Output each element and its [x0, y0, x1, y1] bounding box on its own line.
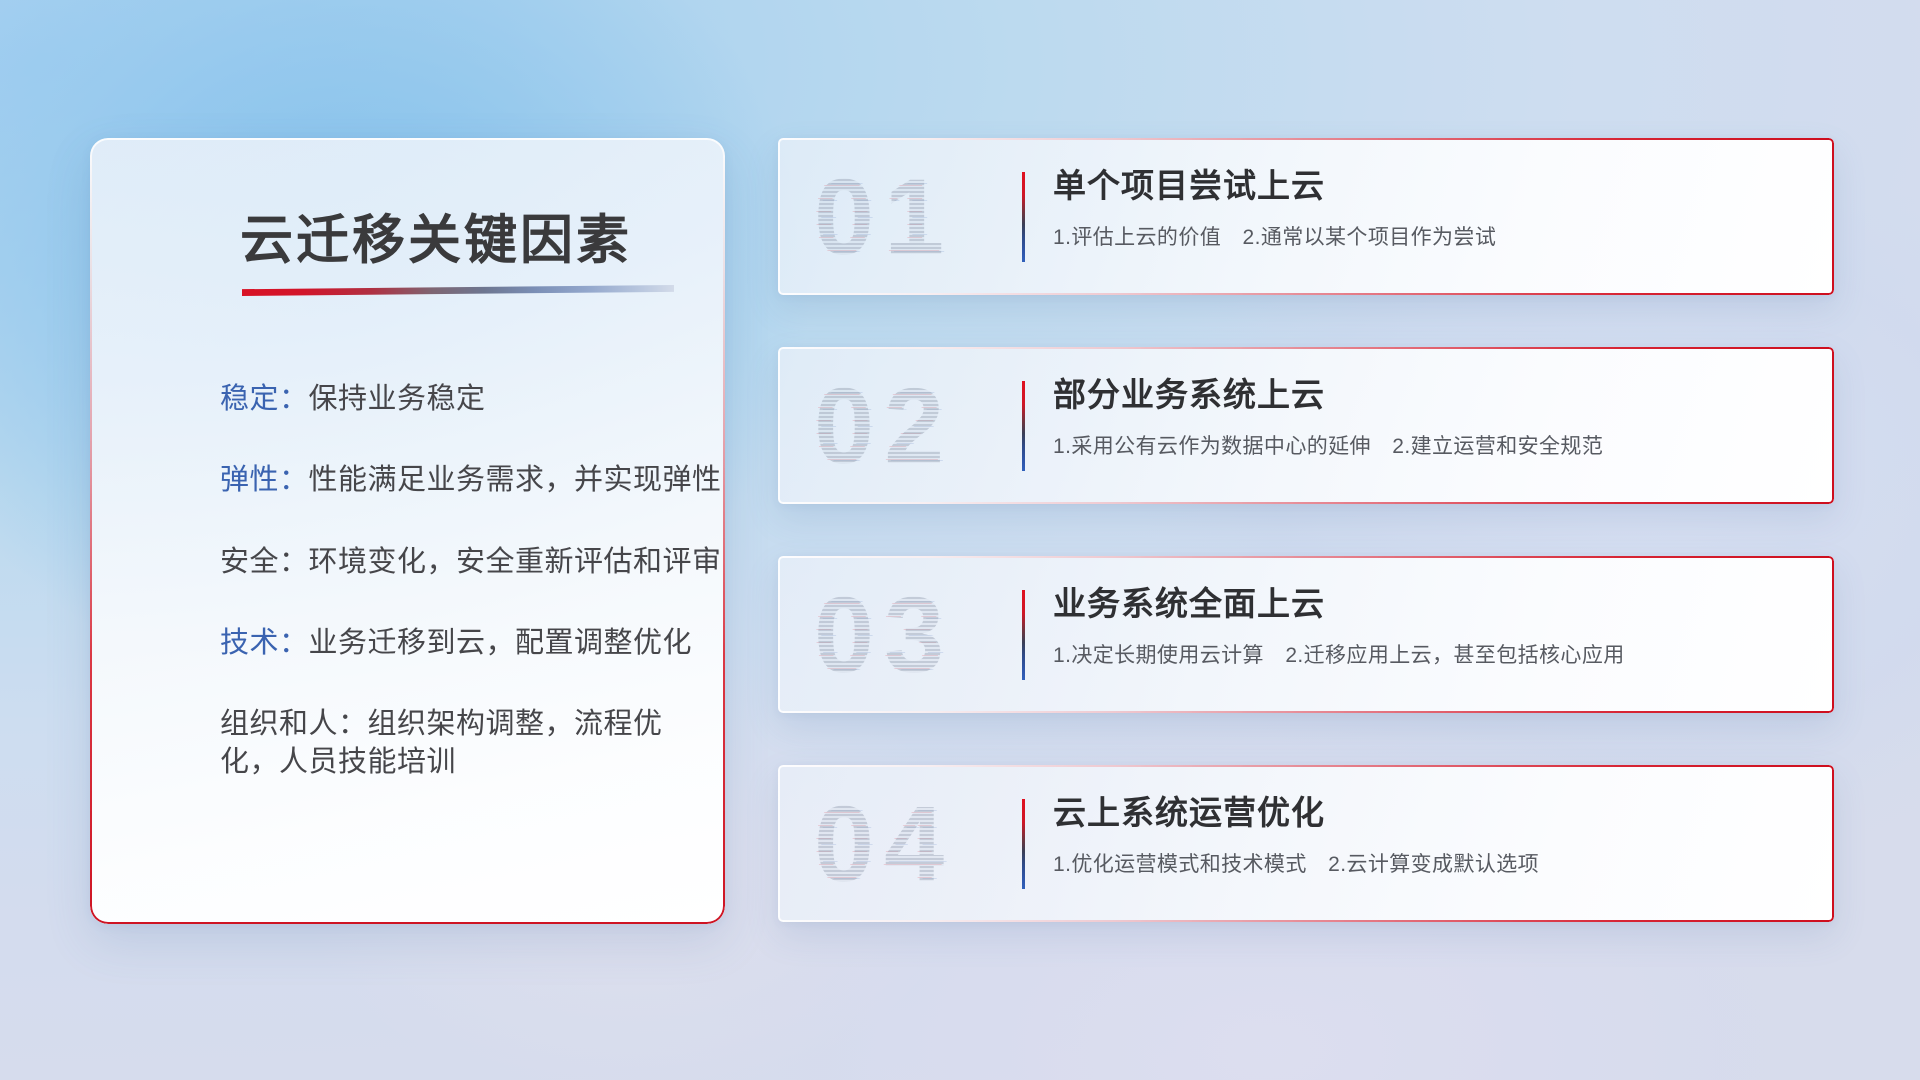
step-divider-accent: [1022, 590, 1025, 680]
step-description: 1.评估上云的价值 2.通常以某个项目作为尝试: [1053, 221, 1800, 251]
list-item-label: 稳定：: [220, 383, 309, 415]
list-item-label: 弹性：: [220, 464, 309, 496]
migration-steps-list: 01 01 01 单个项目尝试上云 1.评估上云的价值 2.通常以某个项目作为尝…: [778, 138, 1834, 974]
step-divider-accent: [1022, 381, 1025, 471]
step-number: 01: [814, 159, 1034, 275]
list-item: 技术：业务迁移到云，配置调整优化: [220, 624, 689, 662]
list-item: 稳定：保持业务稳定: [220, 380, 689, 418]
step-title: 业务系统全面上云: [1053, 584, 1800, 624]
list-item: 组织和人：组织架构调整，流程优化，人员技能培训: [220, 705, 689, 782]
step-text-block: 云上系统运营优化 1.优化运营模式和技术模式 2.云计算变成默认选项: [1053, 793, 1800, 878]
title-underline-accent: [242, 285, 674, 296]
list-item-label: 安全：: [220, 546, 309, 578]
step-text-block: 部分业务系统上云 1.采用公有云作为数据中心的延伸 2.建立运营和安全规范: [1053, 375, 1800, 460]
list-item-text: 性能满足业务需求，并实现弹性: [309, 464, 722, 496]
step-card-01[interactable]: 01 01 01 单个项目尝试上云 1.评估上云的价值 2.通常以某个项目作为尝…: [778, 138, 1834, 295]
list-item-label: 技术：: [220, 627, 309, 659]
step-text-block: 单个项目尝试上云 1.评估上云的价值 2.通常以某个项目作为尝试: [1053, 166, 1800, 251]
step-title: 云上系统运营优化: [1053, 793, 1800, 833]
page-title: 云迁移关键因素: [240, 198, 632, 274]
step-card-02[interactable]: 02 02 02 部分业务系统上云 1.采用公有云作为数据中心的延伸 2.建立运…: [778, 347, 1834, 504]
step-number: 04: [814, 786, 1034, 902]
step-title: 单个项目尝试上云: [1053, 166, 1800, 206]
step-title: 部分业务系统上云: [1053, 375, 1800, 415]
step-text-block: 业务系统全面上云 1.决定长期使用云计算 2.迁移应用上云，甚至包括核心应用: [1053, 584, 1800, 669]
key-factors-list: 稳定：保持业务稳定 弹性：性能满足业务需求，并实现弹性 安全：环境变化，安全重新…: [220, 380, 689, 825]
list-item: 安全：环境变化，安全重新评估和评审: [220, 543, 689, 581]
step-description: 1.采用公有云作为数据中心的延伸 2.建立运营和安全规范: [1053, 430, 1800, 460]
step-divider-accent: [1022, 799, 1025, 889]
step-card-03[interactable]: 03 03 03 业务系统全面上云 1.决定长期使用云计算 2.迁移应用上云，甚…: [778, 556, 1834, 713]
list-item-text: 环境变化，安全重新评估和评审: [309, 546, 722, 578]
list-item-text: 业务迁移到云，配置调整优化: [309, 627, 693, 659]
step-number: 03: [814, 577, 1034, 693]
step-description: 1.优化运营模式和技术模式 2.云计算变成默认选项: [1053, 848, 1800, 878]
slide-root: 云迁移关键因素 稳定：保持业务稳定 弹性：性能满足业务需求，并实现弹性 安全：环…: [0, 0, 1920, 1080]
step-divider-accent: [1022, 172, 1025, 262]
list-item-text: 保持业务稳定: [309, 383, 486, 415]
step-card-04[interactable]: 04 04 04 云上系统运营优化 1.优化运营模式和技术模式 2.云计算变成默…: [778, 765, 1834, 922]
list-item: 弹性：性能满足业务需求，并实现弹性: [220, 461, 689, 499]
list-item-label: 组织和人：: [220, 708, 368, 740]
step-number: 02: [814, 368, 1034, 484]
key-factors-card: 云迁移关键因素 稳定：保持业务稳定 弹性：性能满足业务需求，并实现弹性 安全：环…: [90, 138, 725, 924]
step-description: 1.决定长期使用云计算 2.迁移应用上云，甚至包括核心应用: [1053, 639, 1800, 669]
